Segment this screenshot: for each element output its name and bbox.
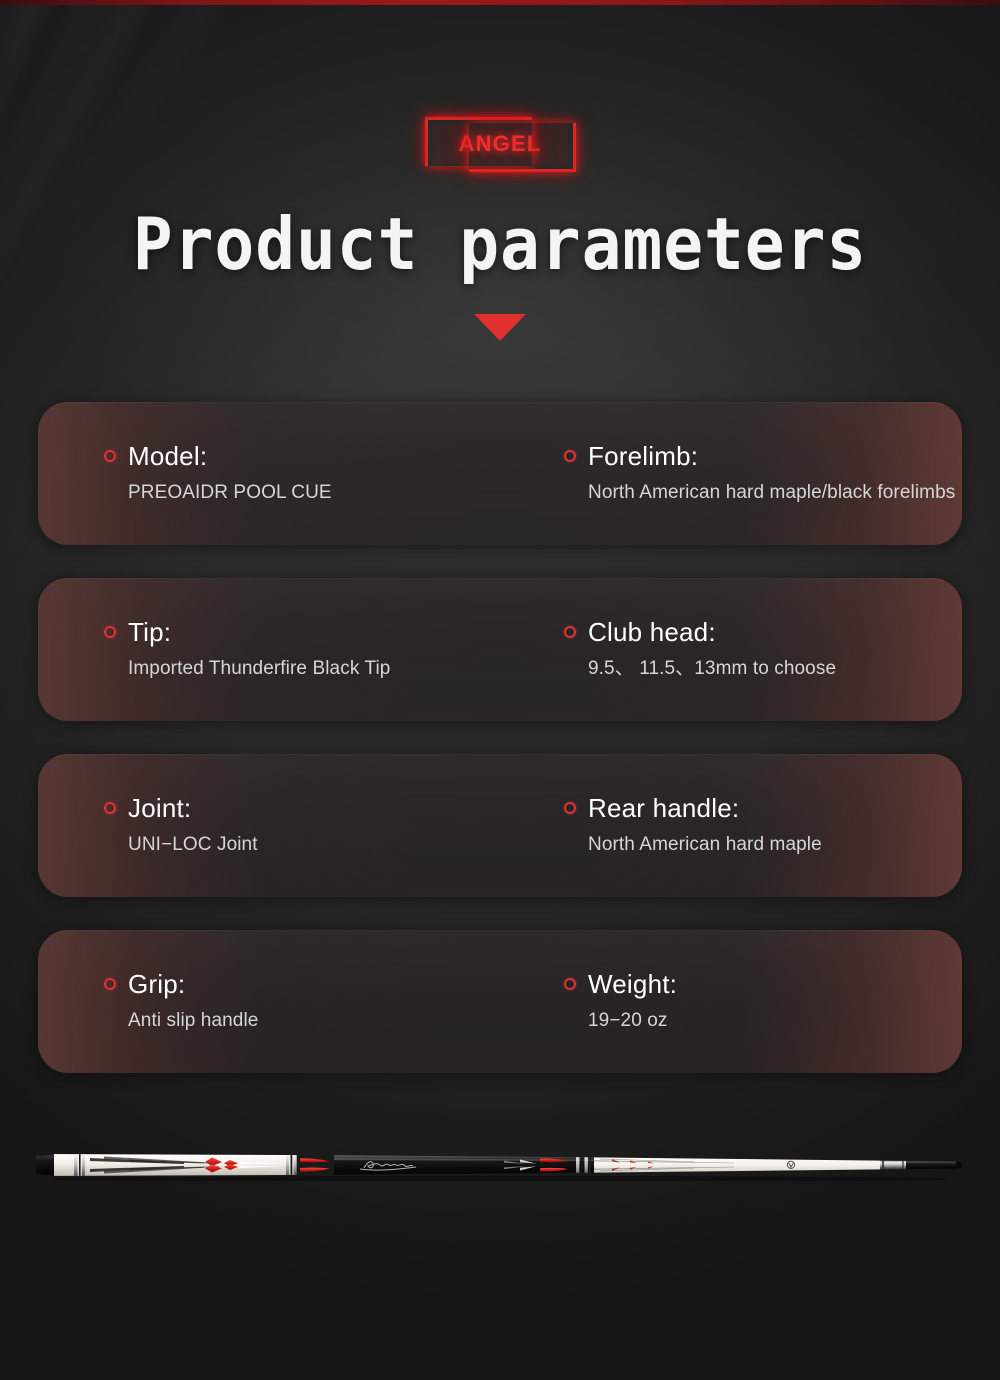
parameter-cell: Rear handle: North American hard maple xyxy=(500,794,962,857)
parameter-label: Joint: xyxy=(128,794,191,823)
parameter-label-row: Forelimb: xyxy=(564,442,962,471)
bullet-ring-icon xyxy=(564,978,576,990)
pool-cue-photo xyxy=(34,1149,966,1181)
parameter-label: Tip: xyxy=(128,618,171,647)
page-header: ANGEL Product parameters xyxy=(0,124,1000,354)
parameter-label-row: Tip: xyxy=(104,618,500,647)
parameter-value: Anti slip handle xyxy=(128,1009,500,1033)
parameter-cell: Forelimb: North American hard maple/blac… xyxy=(500,442,962,505)
parameter-cell: Tip: Imported Thunderfire Black Tip xyxy=(38,618,500,681)
parameter-label: Weight: xyxy=(588,970,677,999)
parameter-cell: Grip: Anti slip handle xyxy=(38,970,500,1033)
product-image-stage xyxy=(0,1113,1000,1233)
cue-tip-cap xyxy=(956,1162,962,1169)
brand-badge-wrapper: ANGEL xyxy=(0,124,1000,186)
parameter-value: UNI−LOC Joint xyxy=(128,833,500,857)
parameter-label-row: Club head: xyxy=(564,618,962,647)
bullet-ring-icon xyxy=(564,626,576,638)
parameter-cell: Club head: 9.5、 11.5、13mm to choose xyxy=(500,618,962,681)
product-parameters-page: ANGEL Product parameters Model: PREOAIDR… xyxy=(0,0,1000,1380)
parameter-value: PREOAIDR POOL CUE xyxy=(128,481,500,505)
cue-bumper xyxy=(36,1154,56,1176)
parameter-label-row: Grip: xyxy=(104,970,500,999)
bullet-ring-icon xyxy=(104,978,116,990)
cue-tip-end xyxy=(906,1161,956,1169)
parameter-label-row: Weight: xyxy=(564,970,962,999)
parameter-cell: Weight: 19−20 oz xyxy=(500,970,962,1033)
parameter-value: Imported Thunderfire Black Tip xyxy=(128,657,500,681)
parameter-card: Model: PREOAIDR POOL CUE Forelimb: North… xyxy=(38,402,962,545)
bullet-ring-icon xyxy=(104,626,116,638)
bullet-ring-icon xyxy=(104,450,116,462)
parameter-label-row: Joint: xyxy=(104,794,500,823)
cue-joint-collar xyxy=(880,1161,906,1170)
triangle-down-icon-wrapper xyxy=(0,314,1000,354)
parameter-card: Tip: Imported Thunderfire Black Tip Club… xyxy=(38,578,962,721)
parameter-value: North American hard maple/black forelimb… xyxy=(588,481,962,505)
bullet-ring-icon xyxy=(104,802,116,814)
parameter-label: Grip: xyxy=(128,970,185,999)
parameter-card: Grip: Anti slip handle Weight: 19−20 oz xyxy=(38,930,962,1073)
parameter-label: Forelimb: xyxy=(588,442,698,471)
page-title: Product parameters xyxy=(40,202,960,286)
triangle-down-icon xyxy=(474,314,526,341)
parameter-label-row: Rear handle: xyxy=(564,794,962,823)
bullet-ring-icon xyxy=(564,802,576,814)
parameter-label: Rear handle: xyxy=(588,794,739,823)
top-accent-bar xyxy=(0,0,1000,5)
parameter-value: North American hard maple xyxy=(588,833,962,857)
parameters-list: Model: PREOAIDR POOL CUE Forelimb: North… xyxy=(0,402,1000,1073)
parameter-label: Club head: xyxy=(588,618,716,647)
bullet-ring-icon xyxy=(564,450,576,462)
parameter-value: 19−20 oz xyxy=(588,1009,962,1033)
parameter-card: Joint: UNI−LOC Joint Rear handle: North … xyxy=(38,754,962,897)
brand-badge: ANGEL xyxy=(433,124,568,164)
parameter-value: 9.5、 11.5、13mm to choose xyxy=(588,657,962,681)
parameter-label-row: Model: xyxy=(104,442,500,471)
parameter-cell: Joint: UNI−LOC Joint xyxy=(38,794,500,857)
parameter-label: Model: xyxy=(128,442,207,471)
parameter-cell: Model: PREOAIDR POOL CUE xyxy=(38,442,500,505)
